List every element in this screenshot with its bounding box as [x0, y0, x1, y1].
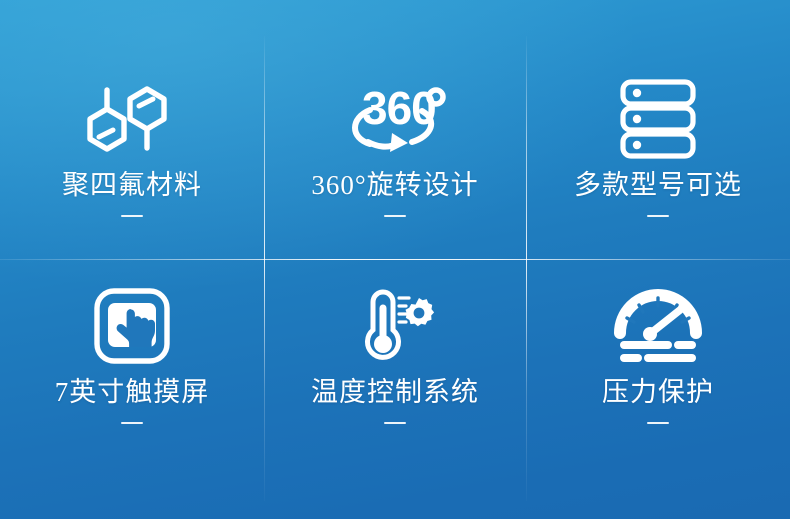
rotation-number-text: 360 [362, 82, 436, 134]
feature-label: 360°旋转设计 [311, 172, 478, 199]
feature-cell-pressure-protection[interactable]: 压力保护 [526, 260, 790, 519]
feature-cell-multiple-models[interactable]: 多款型号可选 [526, 0, 790, 260]
feature-underline [384, 422, 406, 424]
feature-cell-temperature-control[interactable]: 温度控制系统 [264, 260, 526, 519]
feature-label: 7英寸触摸屏 [55, 379, 210, 406]
server-stack-icon [618, 78, 698, 160]
touchscreen-hand-icon [93, 285, 171, 367]
feature-underline [384, 215, 406, 217]
feature-label: 温度控制系统 [311, 379, 479, 406]
feature-underline [647, 422, 669, 424]
feature-cell-ptfe-material[interactable]: 聚四氟材料 [0, 0, 264, 260]
feature-underline [121, 422, 143, 424]
feature-label: 压力保护 [602, 379, 714, 406]
pressure-gauge-icon [614, 285, 702, 367]
feature-underline [121, 215, 143, 217]
thermometer-gear-icon [351, 285, 439, 367]
feature-label: 聚四氟材料 [62, 172, 202, 199]
molecule-hexagon-icon [80, 78, 184, 160]
feature-grid: 聚四氟材料 360 [0, 0, 790, 519]
rotation-360-icon: 360 [340, 78, 450, 160]
feature-cell-360-rotation[interactable]: 360 360°旋转设计 [264, 0, 526, 260]
feature-label: 多款型号可选 [574, 172, 742, 199]
feature-grid-banner: 聚四氟材料 360 [0, 0, 790, 519]
feature-underline [647, 215, 669, 217]
feature-cell-touchscreen[interactable]: 7英寸触摸屏 [0, 260, 264, 519]
